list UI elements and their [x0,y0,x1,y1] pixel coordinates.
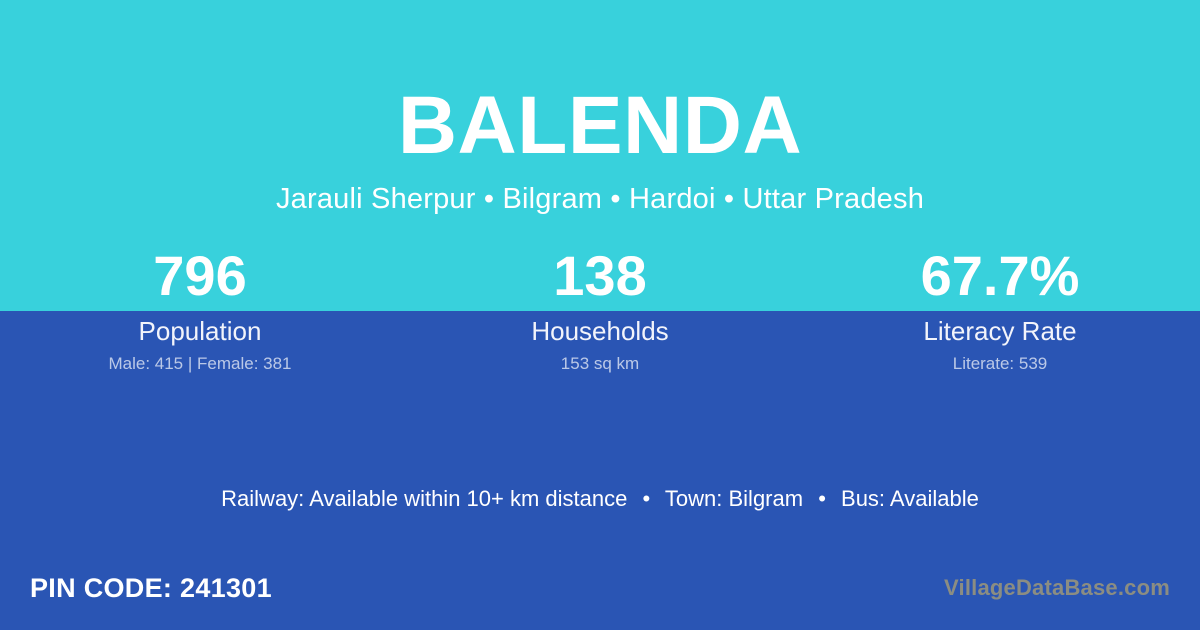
stat-population-value: 796 [0,243,400,309]
stat-population: 796 Population Male: 415 | Female: 381 [0,243,400,374]
stat-households-label: Households [400,316,800,346]
stats-row: 796 Population Male: 415 | Female: 381 1… [0,243,1200,374]
stat-households: 138 Households 153 sq km [400,243,800,374]
card-footer: PIN CODE: 241301 VillageDataBase.com [0,555,1200,630]
village-info-card: BALENDA Jarauli Sherpur • Bilgram • Hard… [0,0,1200,630]
stat-literacy-rate-label: Literacy Rate [800,316,1200,346]
stat-literacy-rate-sub: Literate: 539 [800,354,1200,374]
facility-railway: Railway: Available within 10+ km distanc… [221,486,627,511]
facility-bus: Bus: Available [841,486,979,511]
breadcrumb: Jarauli Sherpur • Bilgram • Hardoi • Utt… [0,182,1200,216]
facilities-row: Railway: Available within 10+ km distanc… [0,485,1200,513]
stat-literacy-rate: 67.7% Literacy Rate Literate: 539 [800,243,1200,374]
stat-literacy-rate-value: 67.7% [800,243,1200,309]
stat-households-sub: 153 sq km [400,354,800,374]
stat-households-value: 138 [400,243,800,309]
page-title: BALENDA [0,83,1200,169]
site-brand: VillageDataBase.com [944,575,1170,601]
stat-population-sub: Male: 415 | Female: 381 [0,354,400,374]
facility-town: Town: Bilgram [665,486,803,511]
facility-separator-2: • [809,485,835,513]
pin-code: PIN CODE: 241301 [30,572,272,604]
facility-separator-1: • [633,485,659,513]
stat-population-label: Population [0,316,400,346]
